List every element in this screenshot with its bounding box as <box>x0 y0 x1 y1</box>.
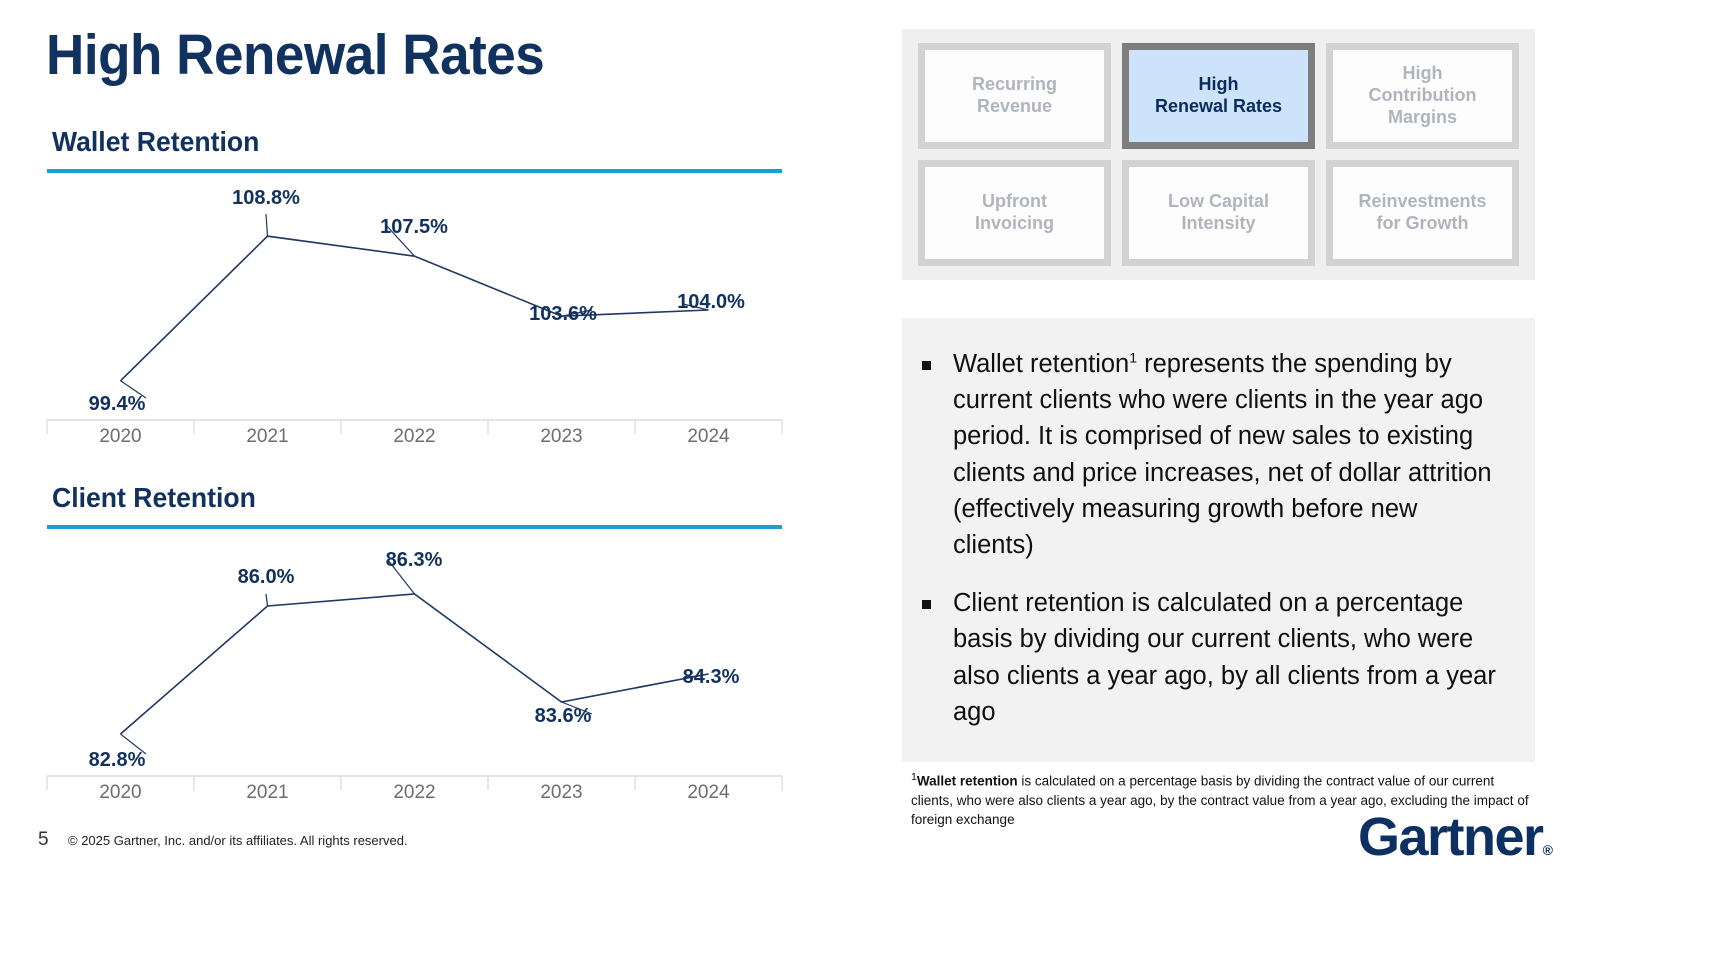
pillar-box-label: UpfrontInvoicing <box>975 191 1054 235</box>
x-tick-label: 2022 <box>341 426 488 448</box>
data-point-label: 83.6% <box>535 705 592 727</box>
page-number: 5 <box>38 829 49 851</box>
data-label-leader <box>266 594 268 606</box>
series-line <box>121 236 709 381</box>
client-retention-heading: Client Retention <box>52 482 256 514</box>
explanation-panel: Wallet retention1 represents the spendin… <box>902 318 1535 762</box>
pillar-box-reinvestments-for-growth[interactable]: Reinvestmentsfor Growth <box>1326 160 1519 266</box>
x-tick-label: 2021 <box>194 426 341 448</box>
pillar-box-upfront-invoicing[interactable]: UpfrontInvoicing <box>918 160 1111 266</box>
x-tick-label: 2021 <box>194 782 341 804</box>
client-x-axis-labels: 2020 2021 2022 2023 2024 <box>47 782 782 804</box>
data-point-label: 104.0% <box>677 291 745 313</box>
bullet-text: Client retention is calculated on a perc… <box>953 585 1505 730</box>
page-title: High Renewal Rates <box>46 26 544 86</box>
wallet-retention-heading: Wallet Retention <box>52 126 259 158</box>
list-item: Wallet retention1 represents the spendin… <box>916 346 1505 563</box>
series-line <box>121 594 709 734</box>
pillar-grid: RecurringRevenue HighRenewal Rates HighC… <box>918 43 1519 266</box>
data-point-label: 103.6% <box>529 303 597 325</box>
x-tick-label: 2023 <box>488 782 635 804</box>
bullet-square-icon <box>922 600 931 609</box>
wallet-retention-plot: 99.4%108.8%107.5%103.6%104.0% <box>0 170 820 420</box>
x-tick-label: 2020 <box>47 426 194 448</box>
footnote-marker: 1 <box>1129 350 1137 366</box>
pillar-box-high-renewal-rates[interactable]: HighRenewal Rates <box>1122 43 1315 149</box>
gartner-logo: Gartner® <box>1358 806 1553 868</box>
pillar-box-label: RecurringRevenue <box>972 74 1057 118</box>
client-retention-plot: 82.8%86.0%86.3%83.6%84.3% <box>0 526 820 776</box>
x-tick-label: 2022 <box>341 782 488 804</box>
copyright-notice: © 2025 Gartner, Inc. and/or its affiliat… <box>68 833 408 848</box>
pillar-box-label: HighRenewal Rates <box>1155 74 1282 118</box>
data-point-label: 107.5% <box>380 216 448 238</box>
pillar-box-label: Reinvestmentsfor Growth <box>1358 191 1486 235</box>
data-point-label: 82.8% <box>89 749 146 771</box>
data-point-label: 99.4% <box>89 393 146 415</box>
bullet-text: Wallet retention1 represents the spendin… <box>953 346 1505 563</box>
wallet-retention-svg: 99.4%108.8%107.5%103.6%104.0% <box>0 170 820 470</box>
pillar-box-label: Low CapitalIntensity <box>1168 191 1269 235</box>
data-point-label: 86.0% <box>238 566 295 588</box>
data-point-label: 84.3% <box>683 666 740 688</box>
data-label-leader <box>266 214 268 236</box>
client-retention-svg: 82.8%86.0%86.3%83.6%84.3% <box>0 526 820 826</box>
pillar-nav-panel: RecurringRevenue HighRenewal Rates HighC… <box>902 29 1535 280</box>
bullet-square-icon <box>922 361 931 370</box>
x-tick-label: 2024 <box>635 782 782 804</box>
x-tick-label: 2024 <box>635 426 782 448</box>
list-item: Client retention is calculated on a perc… <box>916 585 1505 730</box>
pillar-box-high-contribution-margins[interactable]: HighContributionMargins <box>1326 43 1519 149</box>
footnote-term: Wallet retention <box>917 774 1018 789</box>
wallet-x-axis-labels: 2020 2021 2022 2023 2024 <box>47 426 782 448</box>
pillar-box-recurring-revenue[interactable]: RecurringRevenue <box>918 43 1111 149</box>
x-tick-label: 2023 <box>488 426 635 448</box>
registered-trademark-icon: ® <box>1543 842 1553 858</box>
pillar-box-label: HighContributionMargins <box>1369 63 1477 129</box>
x-tick-label: 2020 <box>47 782 194 804</box>
data-point-label: 86.3% <box>386 549 443 571</box>
data-point-label: 108.8% <box>232 187 300 209</box>
pillar-box-low-capital-intensity[interactable]: Low CapitalIntensity <box>1122 160 1315 266</box>
